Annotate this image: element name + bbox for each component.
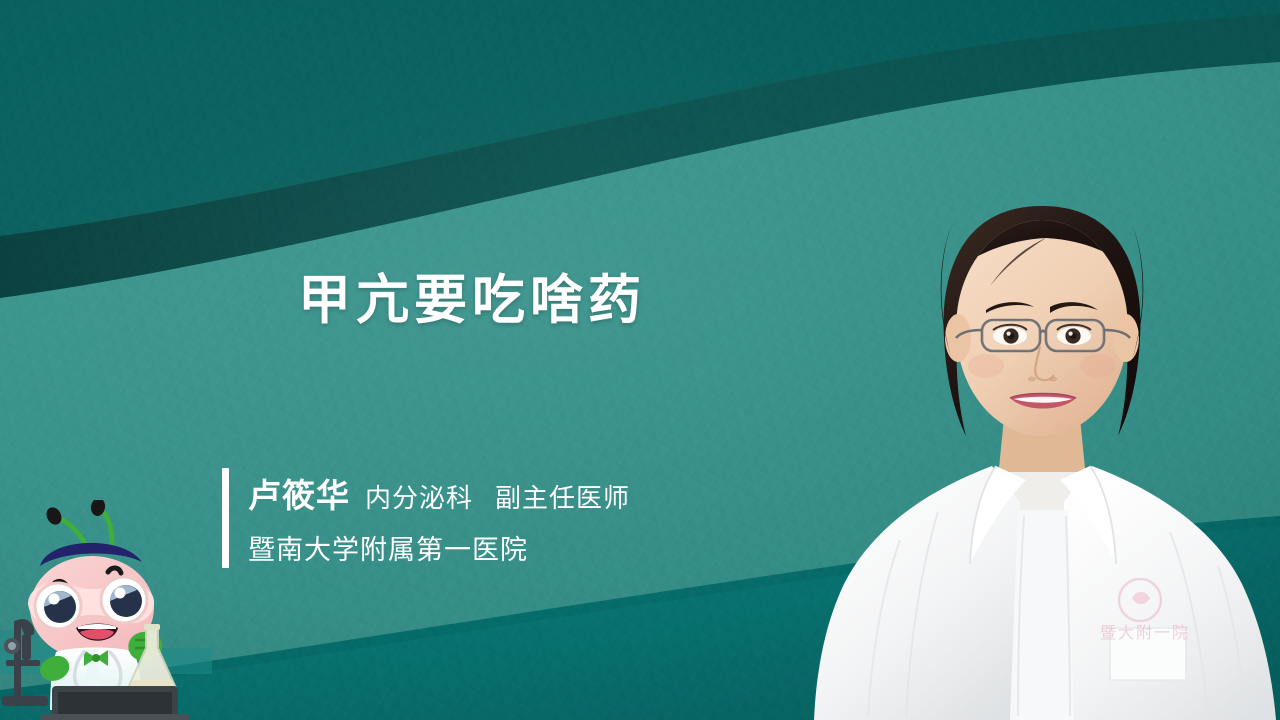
doctor-portrait-photo: 暨大附一院 [810, 160, 1280, 720]
antennae [58, 508, 112, 546]
speaker-job-title: 副主任医师 [495, 478, 630, 515]
laptop-icon [40, 686, 190, 720]
speaker-primary-line: 卢筱华 内分泌科 副主任医师 [248, 469, 630, 517]
cartoon-scientist-mascot [0, 500, 212, 720]
speaker-text-group: 卢筱华 内分泌科 副主任医师 暨南大学附属第一医院 [248, 468, 630, 568]
speaker-name: 卢筱华 [248, 469, 350, 517]
svg-text:暨大附一院: 暨大附一院 [1100, 623, 1190, 642]
speaker-hospital: 暨南大学附属第一医院 [248, 528, 630, 567]
accent-bar [222, 468, 229, 568]
page-title: 甲亢要吃啥药 [298, 272, 646, 329]
speaker-department: 内分泌科 [365, 478, 473, 515]
speaker-credit-block: 卢筱华 内分泌科 副主任医师 暨南大学附属第一医院 [222, 468, 630, 568]
slide-canvas: 暨大附一院 [0, 0, 1280, 720]
